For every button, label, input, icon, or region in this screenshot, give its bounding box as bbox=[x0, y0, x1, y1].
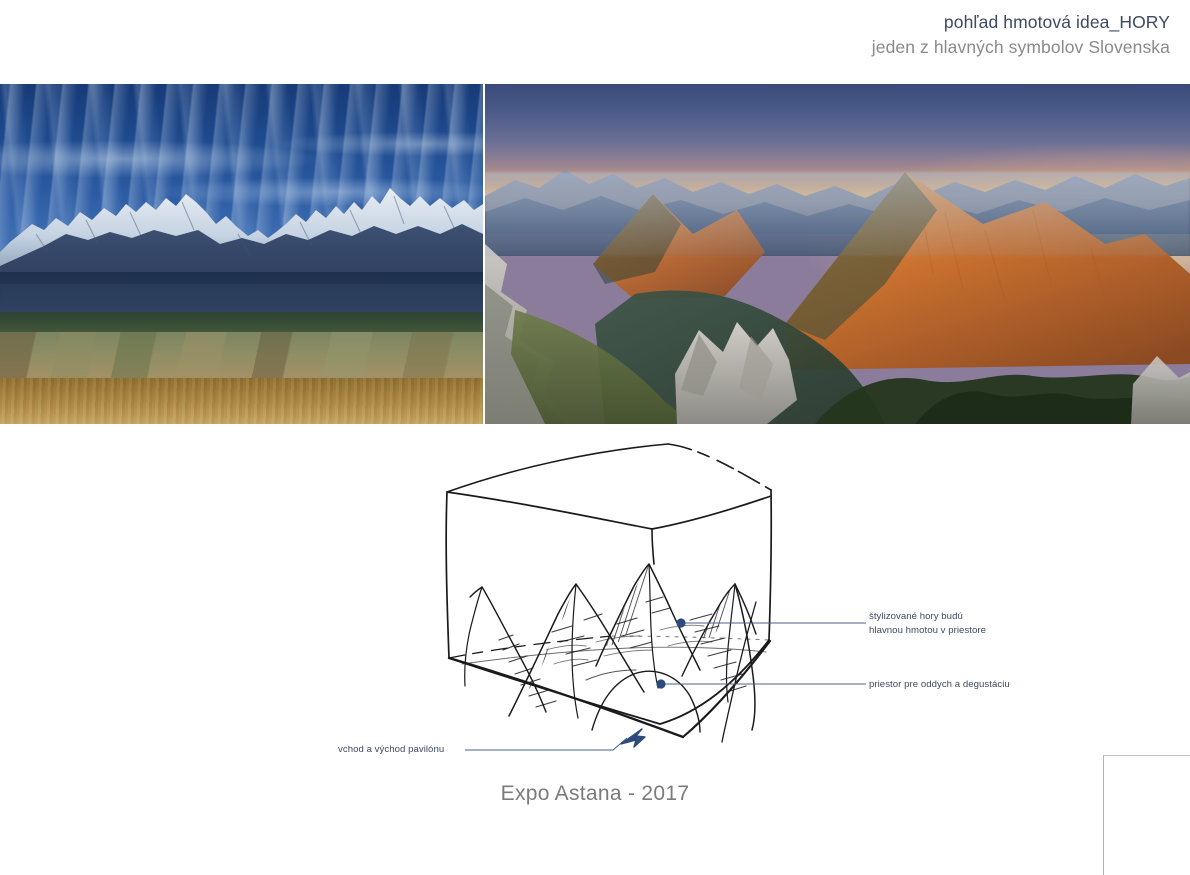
pavilion-concept-sketch bbox=[0, 424, 1190, 841]
slide-caption: Expo Astana - 2017 bbox=[0, 782, 1190, 806]
annotation-label-oddych: priestor pre oddych a degustáciu bbox=[869, 678, 1010, 692]
annotation-dot-oddych bbox=[656, 679, 665, 688]
annotation-label-hory: štylizované hory budú hlavnou hmotou v p… bbox=[869, 610, 986, 638]
fatra-valley-haze bbox=[485, 172, 1190, 256]
photo-band bbox=[0, 84, 1190, 424]
leader-line-vchod bbox=[465, 738, 627, 750]
page-title: pohľad hmotová idea_HORY bbox=[944, 12, 1170, 33]
page-subtitle: jeden z hlavných symbolov Slovenska bbox=[872, 37, 1170, 58]
sketch-stylised-mountains bbox=[462, 564, 766, 742]
annotation-arrow-vchod bbox=[621, 729, 645, 747]
photo-mala-fatra-sunset bbox=[485, 84, 1190, 424]
sketch-area: štylizované hory budú hlavnou hmotou v p… bbox=[0, 424, 1190, 841]
photo-high-tatras bbox=[0, 84, 483, 424]
corner-rule bbox=[1103, 755, 1190, 875]
annotation-dot-hory bbox=[676, 618, 685, 627]
page-header: pohľad hmotová idea_HORY jeden z hlavnýc… bbox=[0, 0, 1190, 84]
annotation-label-vchod: vchod a východ pavilónu bbox=[338, 743, 444, 757]
tatra-plowed-field bbox=[0, 378, 483, 424]
